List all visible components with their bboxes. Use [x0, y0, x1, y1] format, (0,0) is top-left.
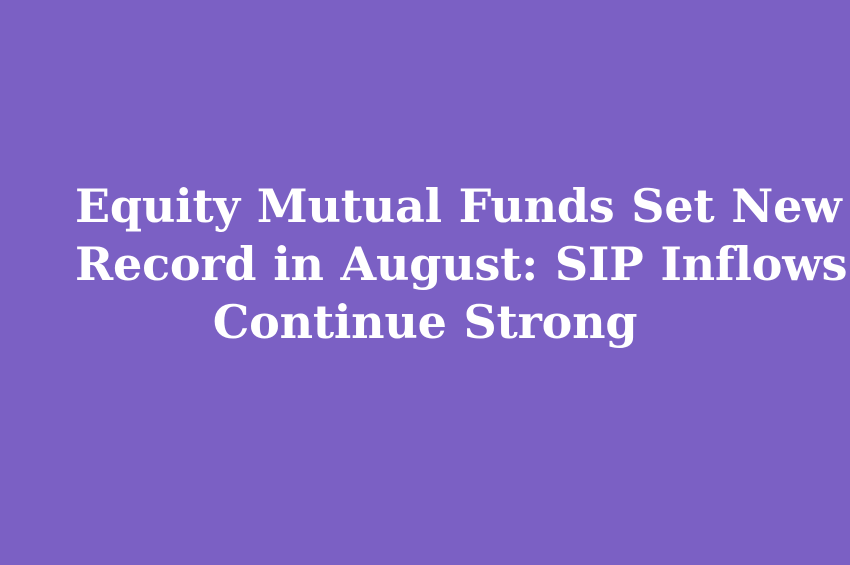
headline-line-1: Equity Mutual Funds Set New — [75, 177, 775, 235]
headline-line-2: Record in August: SIP Inflows — [75, 235, 775, 293]
headline-line-3: Continue Strong — [75, 293, 775, 351]
headline-card: Equity Mutual Funds Set New Record in Au… — [0, 0, 850, 565]
page-title: Equity Mutual Funds Set New Record in Au… — [75, 177, 775, 351]
